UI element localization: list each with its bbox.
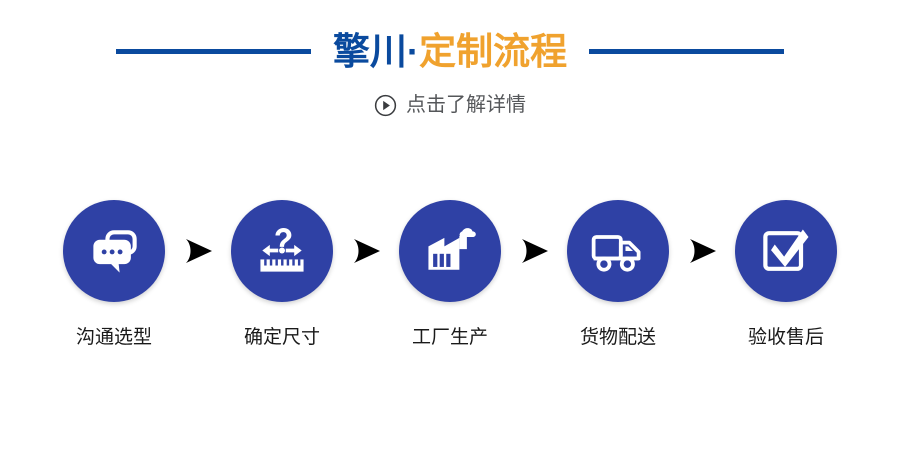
step-arrow-3 <box>509 200 559 302</box>
process-step-4[interactable]: 货物配送 <box>559 200 677 347</box>
process-steps: 沟通选型 <box>0 200 900 375</box>
title-rule-right <box>589 49 784 54</box>
process-step-5-circle[interactable] <box>735 200 837 302</box>
factory-icon <box>420 221 480 281</box>
process-step-5-label: 验收售后 <box>748 328 824 347</box>
title-rule-left <box>116 49 311 54</box>
subtitle-row[interactable]: 点击了解详情 <box>0 88 900 122</box>
process-step-2-label: 确定尺寸 <box>244 328 320 347</box>
play-circle-icon[interactable] <box>374 94 397 117</box>
process-step-1[interactable]: 沟通选型 <box>55 200 173 347</box>
step-arrow-4 <box>677 200 727 302</box>
measure-ruler-question-icon <box>252 221 312 281</box>
process-step-3-circle[interactable] <box>399 200 501 302</box>
header-section: 擎川·定制流程 点击了解详情 <box>0 0 900 140</box>
process-step-3-label: 工厂生产 <box>412 328 488 347</box>
process-step-2[interactable]: 确定尺寸 <box>223 200 341 347</box>
step-arrow-2 <box>341 200 391 302</box>
title-row: 擎川·定制流程 <box>0 22 900 80</box>
process-step-4-circle[interactable] <box>567 200 669 302</box>
process-step-1-circle[interactable] <box>63 200 165 302</box>
delivery-truck-icon <box>588 221 648 281</box>
process-step-5[interactable]: 验收售后 <box>727 200 845 347</box>
process-step-1-label: 沟通选型 <box>76 328 152 347</box>
process-step-3[interactable]: 工厂生产 <box>391 200 509 347</box>
page-title-brand: 擎川· <box>333 31 419 72</box>
step-arrow-1 <box>173 200 223 302</box>
subtitle-text: 点击了解详情 <box>406 95 526 115</box>
chat-bubbles-icon <box>84 221 144 281</box>
page-title: 擎川·定制流程 <box>333 33 567 70</box>
page-title-highlight: 定制流程 <box>419 31 567 72</box>
process-step-4-label: 货物配送 <box>580 328 656 347</box>
checkbox-check-icon <box>756 221 816 281</box>
process-step-2-circle[interactable] <box>231 200 333 302</box>
